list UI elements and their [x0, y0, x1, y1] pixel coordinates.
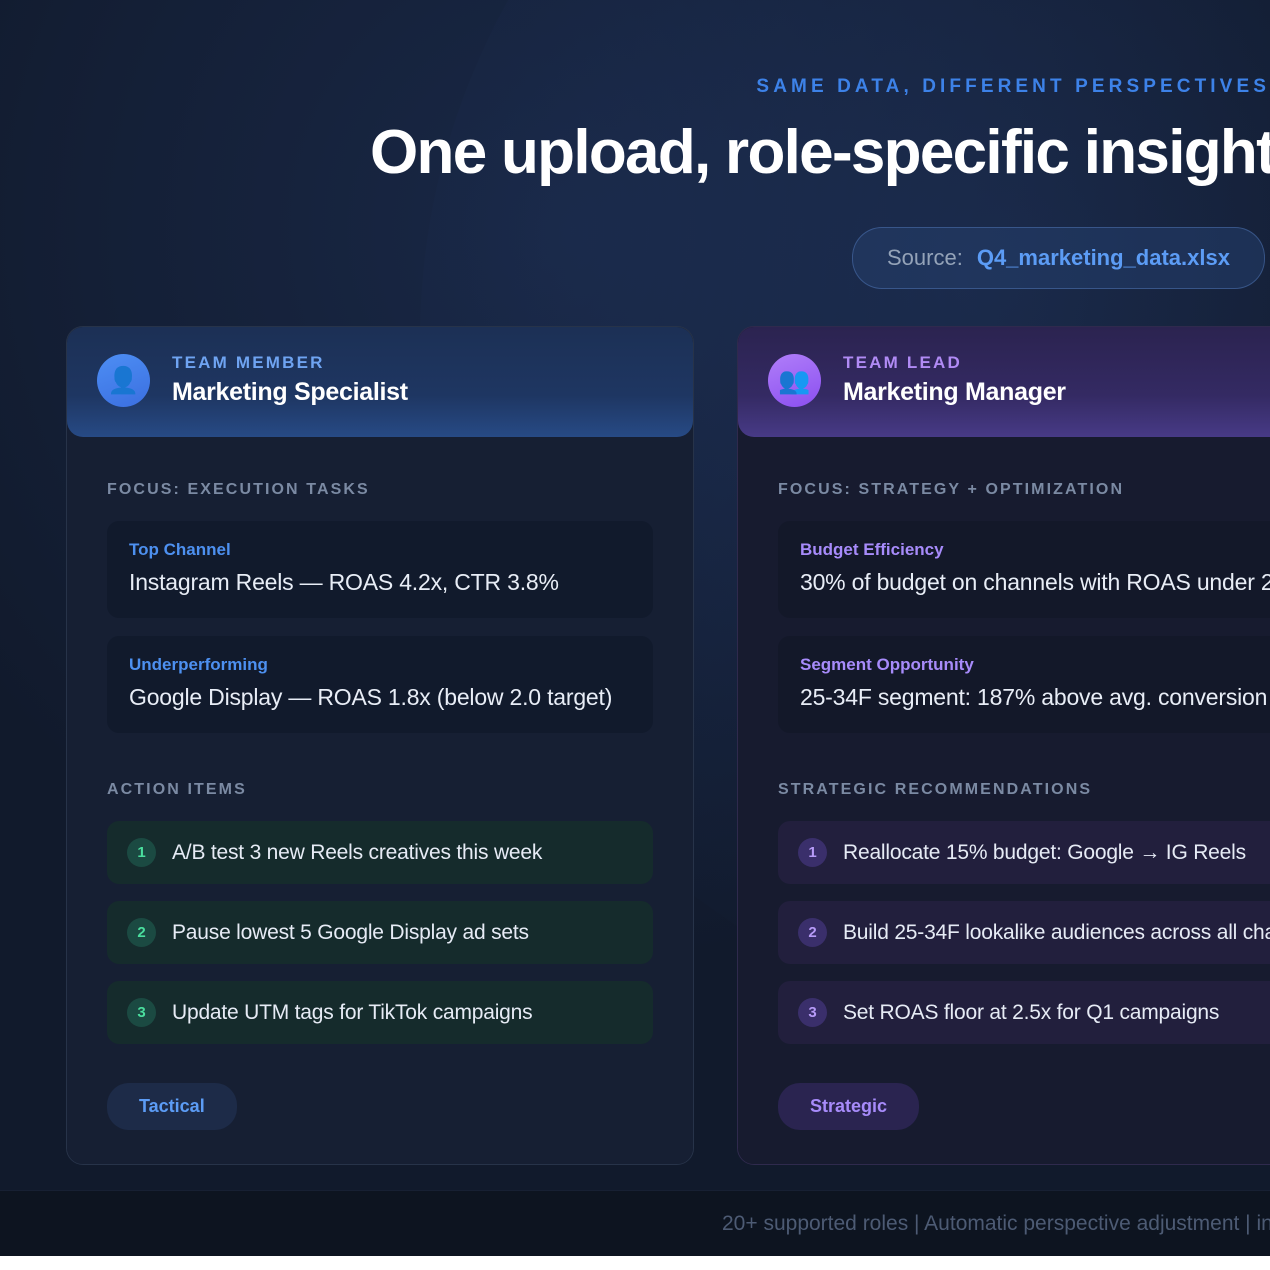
hero-eyebrow: SAME DATA, DIFFERENT PERSPECTIVES	[740, 76, 1270, 98]
item-text: Set ROAS floor at 2.5x for Q1 campaigns	[843, 1001, 1219, 1025]
list-item[interactable]: 1 Reallocate 15% budget: Google → IG Ree…	[778, 821, 1270, 884]
list-item[interactable]: 3 Set ROAS floor at 2.5x for Q1 campaign…	[778, 981, 1270, 1044]
item-number-badge: 2	[798, 918, 827, 947]
role-name: Marketing Manager	[843, 378, 1066, 407]
list-label: ACTION ITEMS	[107, 781, 653, 799]
card-body: FOCUS: STRATEGY + OPTIMIZATION Budget Ef…	[738, 437, 1270, 1164]
insight-text: 25-34F segment: 187% above avg. conversi…	[800, 684, 1270, 711]
role-card-team-lead[interactable]: 👥 TEAM LEAD Marketing Manager FOCUS: STR…	[737, 326, 1270, 1165]
insight-text: Instagram Reels — ROAS 4.2x, CTR 3.8%	[129, 569, 631, 596]
item-number-badge: 1	[127, 838, 156, 867]
card-body: FOCUS: EXECUTION TASKS Top Channel Insta…	[67, 437, 693, 1164]
list-item[interactable]: 2 Pause lowest 5 Google Display ad sets	[107, 901, 653, 964]
spacer	[107, 751, 653, 781]
status-badge[interactable]: Tactical	[107, 1083, 237, 1130]
insight-box: Budget Efficiency 30% of budget on chann…	[778, 521, 1270, 618]
page-bottom-strip	[0, 1256, 1270, 1270]
card-header: 👥 TEAM LEAD Marketing Manager	[738, 327, 1270, 437]
role-card-team-member[interactable]: 👤 TEAM MEMBER Marketing Specialist FOCUS…	[66, 326, 694, 1165]
focus-label: FOCUS: EXECUTION TASKS	[107, 481, 653, 499]
hero-header: SAME DATA, DIFFERENT PERSPECTIVES One up…	[0, 0, 1270, 289]
list-item[interactable]: 3 Update UTM tags for TikTok campaigns	[107, 981, 653, 1044]
role-kicker: TEAM LEAD	[843, 353, 1066, 373]
role-name: Marketing Specialist	[172, 378, 408, 407]
insight-box: Underperforming Google Display — ROAS 1.…	[107, 636, 653, 733]
role-kicker: TEAM MEMBER	[172, 353, 408, 373]
hero-content: SAME DATA, DIFFERENT PERSPECTIVES One up…	[0, 0, 1270, 289]
item-text: Update UTM tags for TikTok campaigns	[172, 1001, 532, 1025]
insight-text: Google Display — ROAS 1.8x (below 2.0 ta…	[129, 684, 631, 711]
people-icon: 👥	[768, 354, 821, 407]
item-text: Reallocate 15% budget: Google → IG Reels	[843, 841, 1246, 865]
list-label: STRATEGIC RECOMMENDATIONS	[778, 781, 1270, 799]
focus-label: FOCUS: STRATEGY + OPTIMIZATION	[778, 481, 1270, 499]
status-badge[interactable]: Strategic	[778, 1083, 919, 1130]
insight-box: Segment Opportunity 25-34F segment: 187%…	[778, 636, 1270, 733]
insight-label: Top Channel	[129, 540, 631, 560]
item-number-badge: 3	[798, 998, 827, 1027]
insight-label: Underperforming	[129, 655, 631, 675]
person-icon: 👤	[97, 354, 150, 407]
item-text: Build 25-34F lookalike audiences across …	[843, 921, 1270, 945]
item-number-badge: 2	[127, 918, 156, 947]
role-cards: 👤 TEAM MEMBER Marketing Specialist FOCUS…	[66, 326, 1270, 1165]
footer-bar: 20+ supported roles | Automatic perspect…	[0, 1190, 1270, 1256]
insight-label: Segment Opportunity	[800, 655, 1270, 675]
spacer	[778, 751, 1270, 781]
item-text: A/B test 3 new Reels creatives this week	[172, 841, 542, 865]
footer-text: 20+ supported roles | Automatic perspect…	[722, 1212, 1270, 1236]
item-number-badge: 3	[127, 998, 156, 1027]
card-header-text: TEAM LEAD Marketing Manager	[843, 353, 1066, 407]
source-chip[interactable]: Source: Q4_marketing_data.xlsx	[852, 227, 1265, 289]
insight-label: Budget Efficiency	[800, 540, 1270, 560]
card-header: 👤 TEAM MEMBER Marketing Specialist	[67, 327, 693, 437]
item-number-badge: 1	[798, 838, 827, 867]
source-label: Source:	[887, 245, 963, 271]
insight-box: Top Channel Instagram Reels — ROAS 4.2x,…	[107, 521, 653, 618]
item-text: Pause lowest 5 Google Display ad sets	[172, 921, 529, 945]
list-item[interactable]: 1 A/B test 3 new Reels creatives this we…	[107, 821, 653, 884]
list-item[interactable]: 2 Build 25-34F lookalike audiences acros…	[778, 901, 1270, 964]
hero-section: SAME DATA, DIFFERENT PERSPECTIVES One up…	[0, 0, 1270, 1256]
source-filename: Q4_marketing_data.xlsx	[977, 245, 1230, 271]
card-header-text: TEAM MEMBER Marketing Specialist	[172, 353, 408, 407]
insight-text: 30% of budget on channels with ROAS unde…	[800, 569, 1270, 596]
page-title: One upload, role-specific insights	[370, 120, 1270, 185]
